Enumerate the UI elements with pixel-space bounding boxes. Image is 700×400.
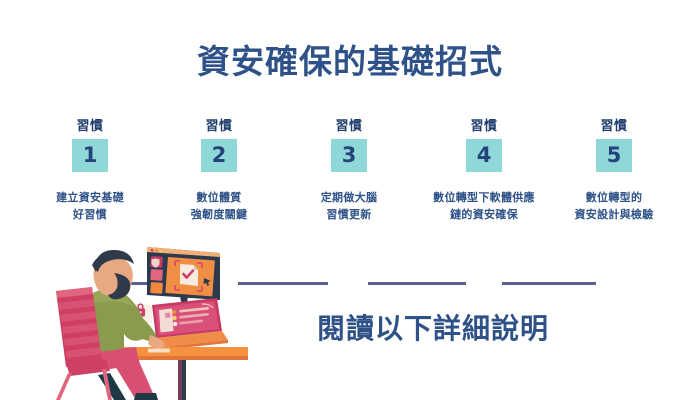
step-habit-label-2: 習慣: [149, 120, 289, 133]
step-habit-label-5: 習慣: [544, 120, 684, 133]
step-number-box-4[interactable]: 4: [466, 139, 502, 172]
step-caption-1-line2: 好習慣: [20, 207, 160, 224]
step-caption-3-line2: 習慣更新: [279, 207, 419, 224]
step-number-5: 5: [607, 145, 622, 166]
timeline-connector-4-5: [502, 282, 596, 285]
step-number-box-3[interactable]: 3: [331, 139, 367, 172]
desktop-monitor-icon: [147, 247, 220, 303]
page-title: 資安確保的基礎招式: [0, 44, 700, 80]
step-number-1: 1: [83, 145, 98, 166]
read-more-text: 閱讀以下詳細說明: [268, 307, 598, 347]
step-number-box-5[interactable]: 5: [596, 139, 632, 172]
step-caption-1-line1: 建立資安基礎: [20, 190, 160, 207]
step-number-box-1[interactable]: 1: [72, 139, 108, 172]
step-caption-3: 定期做大腦 習慣更新: [279, 190, 419, 223]
step-caption-4-line2: 鏈的資安確保: [414, 207, 554, 224]
timeline-step-4[interactable]: 習慣 4 數位轉型下軟體供應 鏈的資安確保: [414, 120, 554, 223]
laptop-icon: [152, 298, 228, 350]
step-caption-5: 數位轉型的 資安設計與檢驗: [544, 190, 684, 223]
timeline-step-1[interactable]: 習慣 1 建立資安基礎 好習慣: [20, 120, 160, 223]
step-habit-label-4: 習慣: [414, 120, 554, 133]
timeline-connector-3-4: [368, 282, 466, 285]
step-caption-2: 數位體質 強韌度關鍵: [149, 190, 289, 223]
infographic-slide: 資安確保的基礎招式 習慣 1 建立資安基礎 好習慣 習慣 2 數位體質: [0, 0, 700, 400]
step-number-3: 3: [342, 145, 357, 166]
step-number-2: 2: [212, 145, 227, 166]
person-at-desk-illustration: [52, 243, 287, 400]
timeline-step-2[interactable]: 習慣 2 數位體質 強韌度關鍵: [149, 120, 289, 223]
step-number-box-2[interactable]: 2: [201, 139, 237, 172]
step-caption-5-line2: 資安設計與檢驗: [544, 207, 684, 224]
timeline-step-3[interactable]: 習慣 3 定期做大腦 習慣更新: [279, 120, 419, 223]
step-caption-1: 建立資安基礎 好習慣: [20, 190, 160, 223]
step-caption-3-line1: 定期做大腦: [279, 190, 419, 207]
step-caption-4-line1: 數位轉型下軟體供應: [414, 190, 554, 207]
timeline-step-5[interactable]: 習慣 5 數位轉型的 資安設計與檢驗: [544, 120, 684, 223]
step-habit-label-3: 習慣: [279, 120, 419, 133]
step-habit-label-1: 習慣: [20, 120, 160, 133]
step-caption-4: 數位轉型下軟體供應 鏈的資安確保: [414, 190, 554, 223]
step-caption-2-line1: 數位體質: [149, 190, 289, 207]
step-caption-2-line2: 強韌度關鍵: [149, 207, 289, 224]
step-caption-5-line1: 數位轉型的: [544, 190, 684, 207]
habits-timeline: 習慣 1 建立資安基礎 好習慣 習慣 2 數位體質 強韌度關鍵 習慣 3: [0, 120, 700, 245]
step-number-4: 4: [477, 145, 492, 166]
